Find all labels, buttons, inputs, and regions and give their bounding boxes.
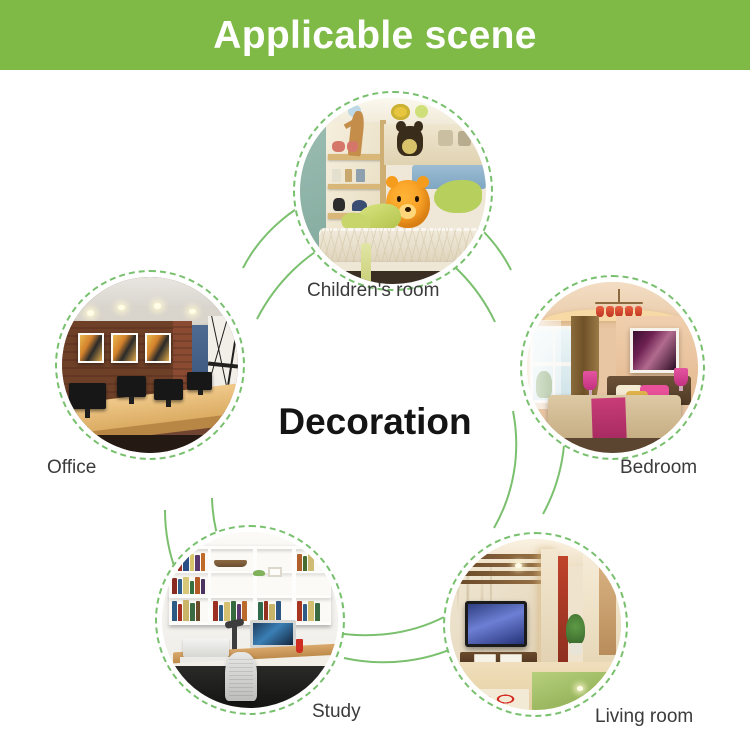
node-living-room[interactable]: Living room bbox=[443, 532, 628, 717]
office-label: Office bbox=[47, 458, 96, 477]
node-study[interactable]: Study bbox=[155, 525, 345, 715]
center-caption: Decoration bbox=[0, 403, 750, 440]
children-room-circle[interactable] bbox=[293, 91, 493, 291]
living-room-label: Living room bbox=[595, 707, 693, 726]
study-photo bbox=[162, 532, 338, 708]
study-label: Study bbox=[312, 702, 361, 721]
applicable-scene-infographic: Applicable scene bbox=[0, 0, 750, 750]
header-banner: Applicable scene bbox=[0, 0, 750, 70]
page-title: Applicable scene bbox=[213, 16, 536, 55]
bedroom-label: Bedroom bbox=[620, 458, 697, 477]
living-room-circle[interactable] bbox=[443, 532, 628, 717]
scene-diagram: Children's room bbox=[0, 70, 750, 750]
children-room-photo bbox=[300, 98, 486, 284]
children-room-label: Children's room bbox=[307, 281, 439, 300]
node-children-room[interactable]: Children's room bbox=[293, 91, 493, 291]
study-circle[interactable] bbox=[155, 525, 345, 715]
living-room-photo bbox=[450, 539, 621, 710]
connector-inner-living-study bbox=[331, 617, 444, 635]
